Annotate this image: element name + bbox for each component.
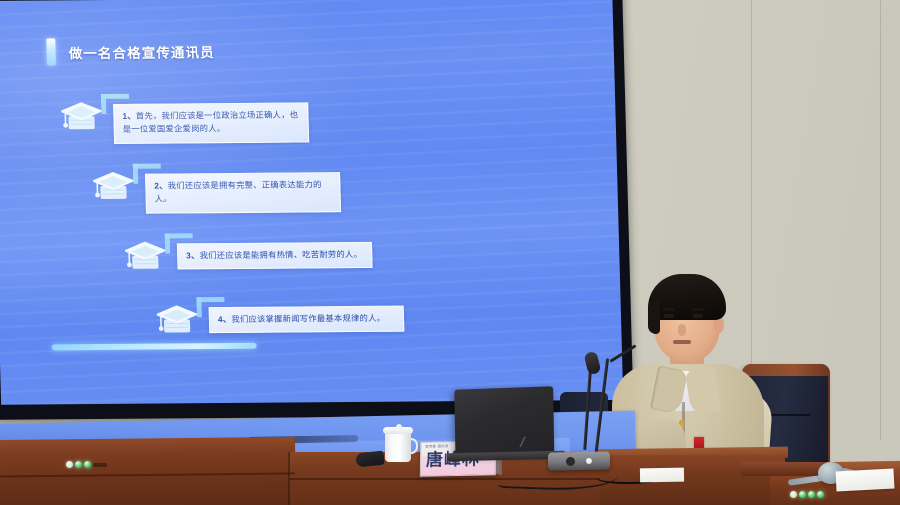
speaker-nose (678, 324, 686, 336)
document-sheet (836, 468, 895, 491)
desk-indicator-lights[interactable] (790, 491, 824, 498)
screen-display-area: 做一名合格宣传通讯员 (0, 0, 623, 405)
document-sheet (640, 468, 684, 483)
bullet-index: 4、 (218, 314, 232, 324)
bullet-callout-box: 4、我们应该掌握新闻写作最基本规律的人。 (209, 306, 405, 334)
slide-title-row: 做一名合格宣传通讯员 (46, 37, 215, 65)
bullet-text: 首先，我们应该是一位政治立场正确人，也是一位爱国爱企爱岗的人。 (123, 109, 299, 134)
title-accent-bar-icon (46, 38, 56, 65)
projection-screen[interactable]: 做一名合格宣传通讯员 (0, 0, 634, 432)
indicator-lamp (75, 461, 82, 468)
wall-panel-seam (880, 0, 881, 440)
bullet-callout-box: 3、我们还应该是能拥有热情、吃苦耐劳的人。 (177, 242, 373, 270)
screenshot-root: 做一名合格宣传通讯员 (0, 0, 900, 505)
cup-body (385, 431, 411, 462)
indicator-lamp (790, 491, 797, 498)
bullet-text: 我们还应该是能拥有热情、吃苦耐劳的人。 (199, 249, 362, 260)
speaker-eyebrow (662, 308, 675, 311)
speaker-eye (693, 314, 703, 318)
indicator-lamp (799, 491, 806, 498)
indicator-lamp (808, 491, 815, 498)
laptop-brand-logo-icon (517, 436, 527, 448)
slide-footer-accent-bar (52, 343, 257, 351)
indicator-lamp (817, 491, 824, 498)
bullet-text: 我们还应该是拥有完整、正确表达能力的人。 (155, 179, 322, 204)
nameplate-subtitle: 宣传部 通讯员 (425, 443, 448, 448)
bullet-index: 3、 (186, 250, 200, 260)
indicator-label-slot (93, 463, 107, 467)
speaker-eye (664, 314, 674, 318)
lidded-tea-cup[interactable] (384, 424, 412, 462)
speaker-mouth (673, 340, 691, 344)
desk-panel-joint (288, 452, 290, 505)
speaker-eyebrow (691, 308, 704, 311)
bullet-callout-box: 1、首先，我们应该是一位政治立场正确人，也是一位爱国爱企爱岗的人。 (113, 102, 309, 143)
presentation-slide: 做一名合格宣传通讯员 (0, 0, 623, 405)
bullet-callout-box: 2、我们还应该是拥有完整、正确表达能力的人。 (145, 172, 341, 213)
indicator-lamp (84, 461, 91, 468)
slide-title: 做一名合格宣传通讯员 (68, 41, 215, 62)
podium-indicator-lights[interactable] (66, 461, 107, 468)
laptop-closed-lid[interactable] (454, 386, 554, 456)
bullet-index: 2、 (154, 181, 168, 191)
indicator-lamp (66, 461, 73, 468)
cup-lid-knob (396, 424, 402, 429)
bullet-index: 1、 (122, 111, 136, 121)
desk-front-panel (0, 437, 296, 505)
bullet-text: 我们应该掌握新闻写作最基本规律的人。 (231, 313, 385, 324)
speaker-hair-side (648, 300, 660, 334)
dark-desk-object (355, 451, 384, 468)
